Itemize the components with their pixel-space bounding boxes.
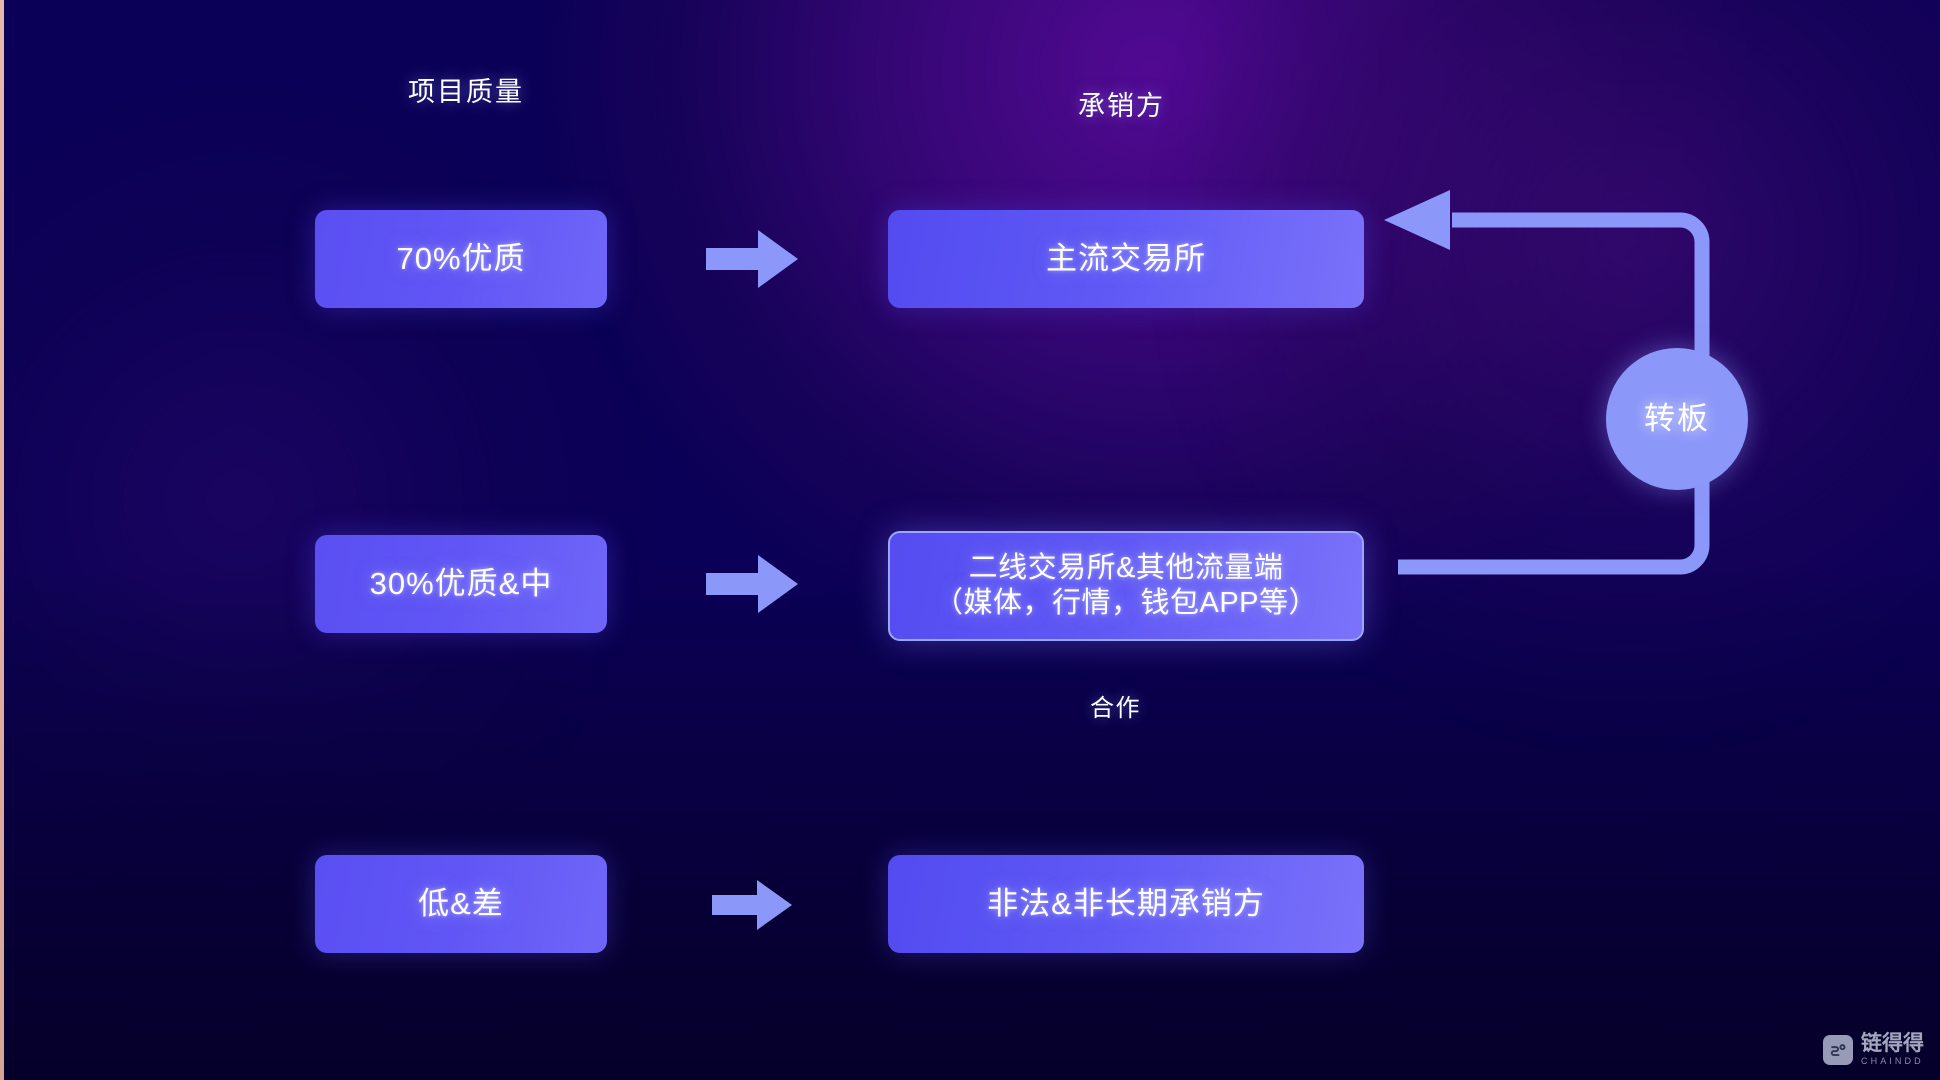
right-block-arrow-icon: [706, 228, 798, 290]
right-block-arrow-icon: [706, 553, 798, 615]
watermark-text: 链得得 CHAINDD: [1861, 1033, 1924, 1066]
column-header-quality: 项目质量: [408, 70, 524, 109]
column-header-underwriter: 承销方: [1078, 84, 1165, 123]
watermark-en-label: CHAINDD: [1861, 1057, 1924, 1066]
quality-node-medium-label: 30%优质&中: [370, 565, 553, 603]
chaindd-logo-icon: [1823, 1035, 1853, 1065]
slide-canvas: 项目质量 承销方 70%优质 30%优质&中 低&差 主流交易所 二线交易所&其…: [0, 0, 1940, 1080]
loop-node-transfer-label: 转板: [1644, 400, 1710, 438]
quality-node-high[interactable]: 70%优质: [315, 210, 607, 308]
quality-node-low-label: 低&差: [418, 885, 504, 923]
underwriter-node-illegal[interactable]: 非法&非长期承销方: [888, 855, 1364, 953]
quality-node-medium[interactable]: 30%优质&中: [315, 535, 607, 633]
underwriter-node-top-exchange-label: 主流交易所: [1046, 240, 1206, 278]
watermark-cn-label: 链得得: [1861, 1033, 1924, 1054]
right-block-arrow-icon: [712, 878, 792, 932]
quality-node-high-label: 70%优质: [396, 240, 525, 278]
underwriter-node-secondary-channels[interactable]: 二线交易所&其他流量端 （媒体，行情，钱包APP等）: [888, 531, 1364, 641]
underwriter-node-top-exchange[interactable]: 主流交易所: [888, 210, 1364, 308]
underwriter-node-illegal-label: 非法&非长期承销方: [987, 885, 1265, 923]
underwriter-node-secondary-channels-label: 二线交易所&其他流量端 （媒体，行情，钱包APP等）: [934, 551, 1318, 622]
quality-node-low[interactable]: 低&差: [315, 855, 607, 953]
caption-cooperation: 合作: [1090, 688, 1141, 723]
left-edge-strip: [0, 0, 4, 1080]
loop-node-transfer[interactable]: 转板: [1606, 348, 1748, 490]
watermark: 链得得 CHAINDD: [1823, 1033, 1924, 1066]
